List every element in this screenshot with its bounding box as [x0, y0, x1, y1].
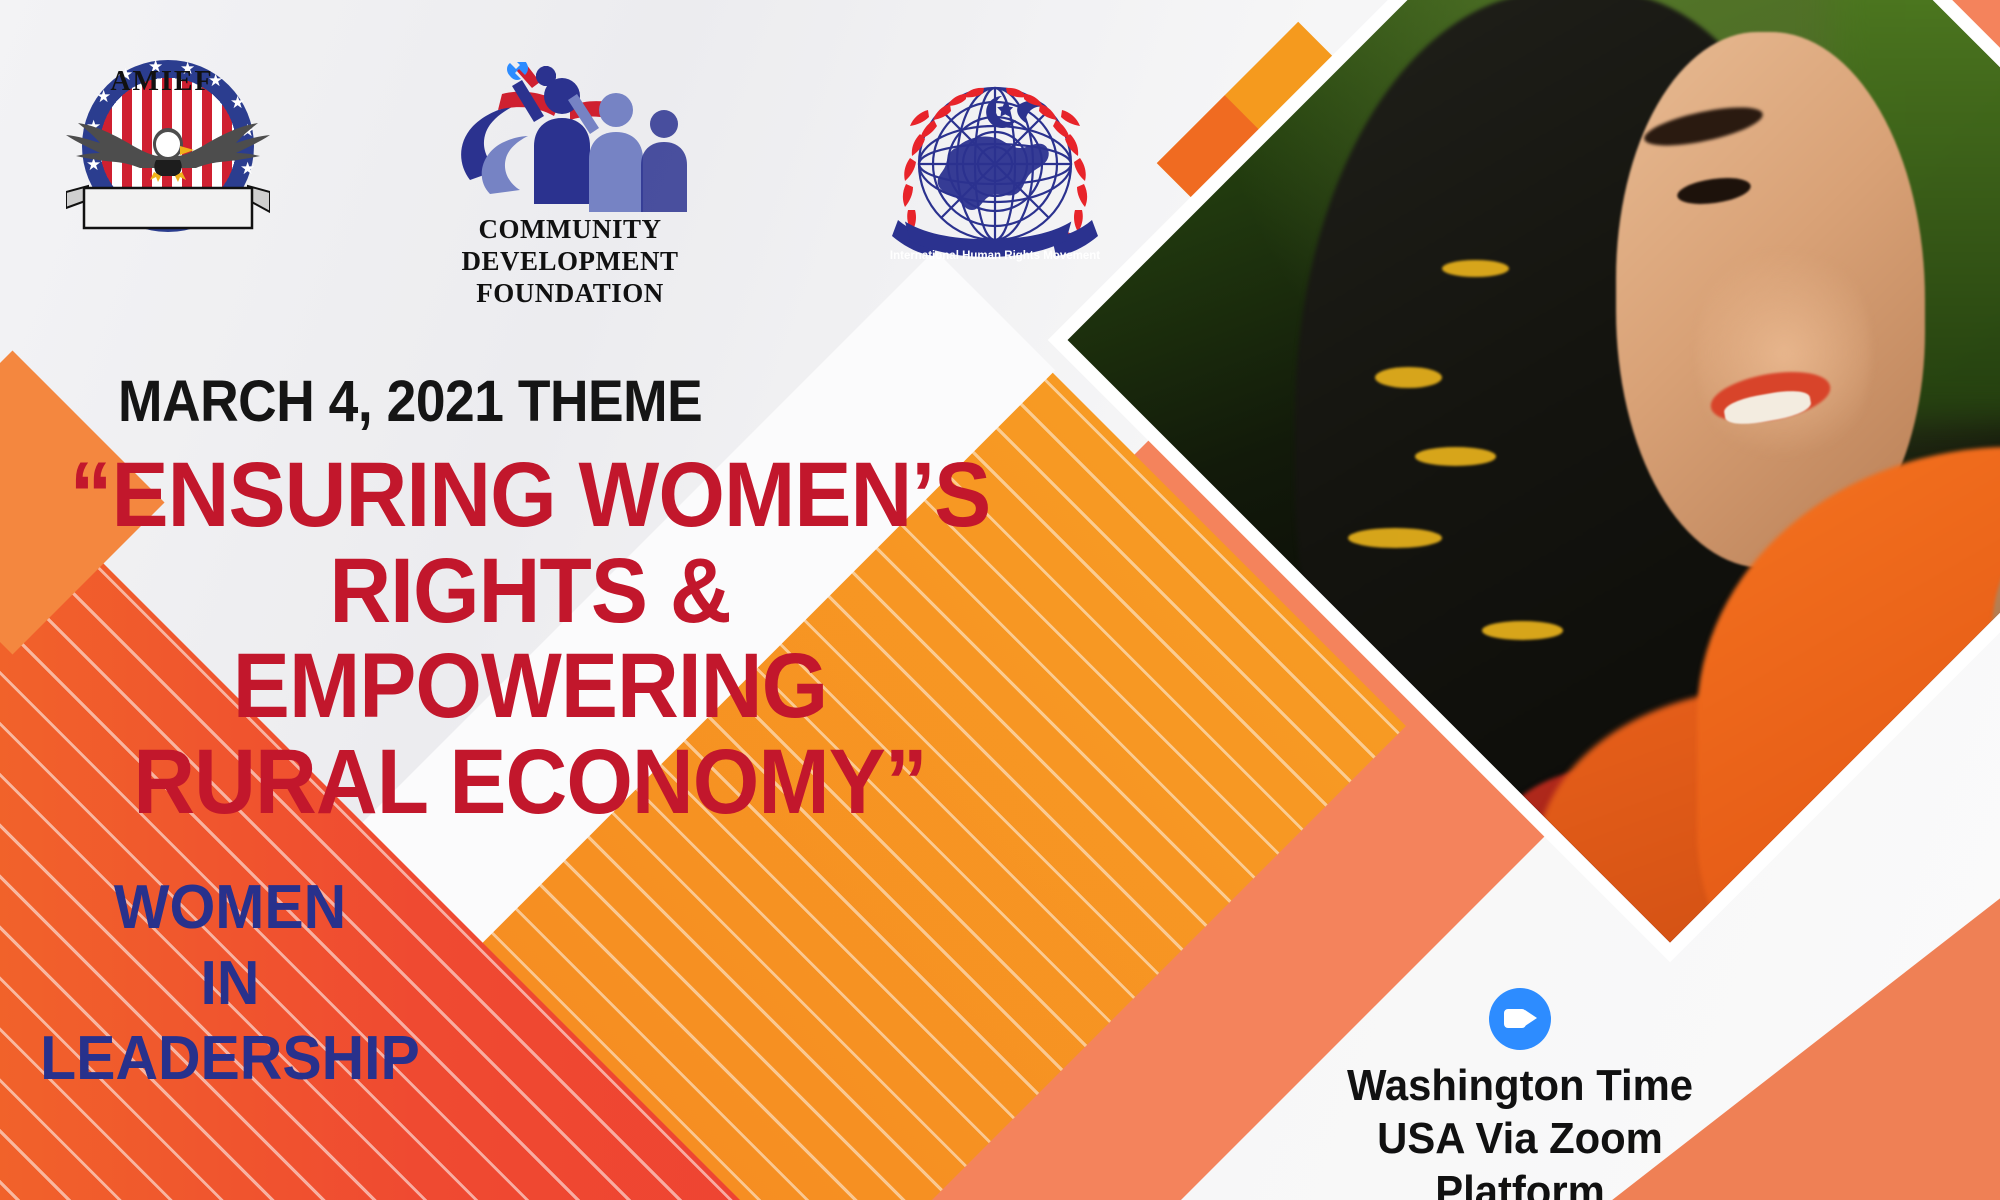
hero-photo-image	[1068, 0, 2000, 942]
subtitle-line-1: WOMEN	[31, 870, 430, 946]
hero-photo-diamond-frame	[1048, 0, 2000, 962]
zoom-video-camera-icon	[1489, 988, 1551, 1050]
photo-cheek	[1697, 233, 1871, 474]
theme-line-2: RIGHTS & EMPOWERING	[37, 544, 1023, 735]
event-theme-title: “ENSURING WOMEN’S RIGHTS & EMPOWERING RU…	[0, 448, 1060, 831]
subtitle-line-3: LEADERSHIP	[31, 1021, 430, 1097]
hero-photo-clip	[1068, 0, 2000, 942]
platform-line-2: USA Via Zoom Platform	[1311, 1113, 1729, 1200]
photo-embroidery-detail	[1482, 621, 1562, 640]
platform-info: Washington Time USA Via Zoom Platform	[1300, 988, 1740, 1200]
event-subtitle-women-in-leadership: WOMEN IN LEADERSHIP	[20, 870, 440, 1097]
platform-line-1: Washington Time	[1311, 1060, 1729, 1113]
photo-embroidery-detail	[1348, 528, 1442, 548]
platform-text: Washington Time USA Via Zoom Platform	[1300, 1060, 1740, 1200]
subtitle-line-2: IN	[31, 946, 430, 1022]
photo-embroidery-detail	[1442, 260, 1509, 277]
photo-embroidery-detail	[1415, 447, 1495, 466]
theme-line-1: “ENSURING WOMEN’S	[37, 448, 1023, 544]
event-flyer: ★ ★ ★ ★ ★ ★ ★ ★ ★ ★ AMIE	[0, 0, 2000, 1200]
flyer-text-content: MARCH 4, 2021 THEME “ENSURING WOMEN’S RI…	[0, 0, 1120, 1200]
theme-line-3: RURAL ECONOMY”	[37, 735, 1023, 831]
event-date-theme-label: MARCH 4, 2021 THEME	[118, 368, 702, 435]
